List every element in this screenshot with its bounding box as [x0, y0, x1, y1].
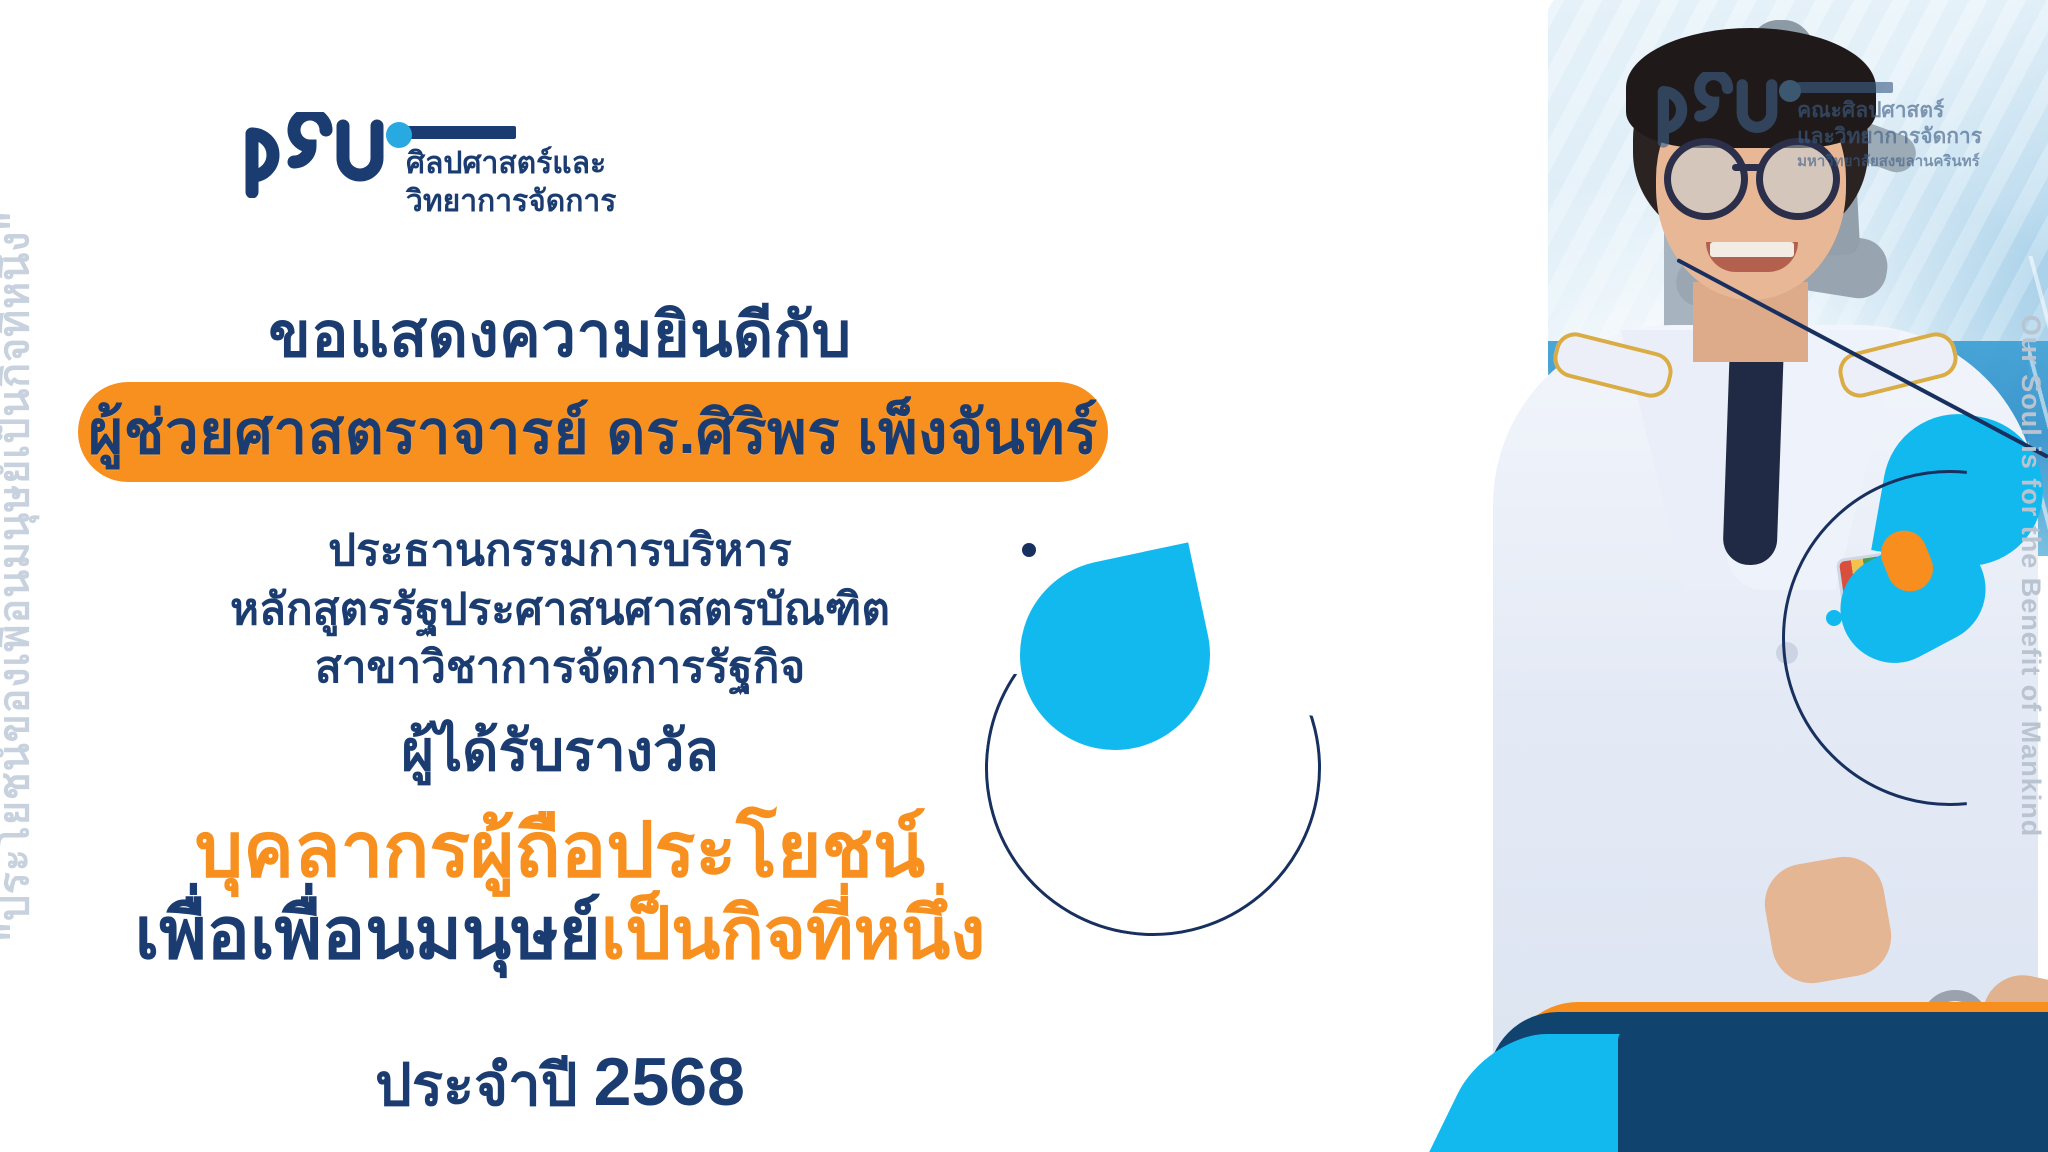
faculty-logo-bar: [1797, 82, 1893, 93]
faculty-logo-text: คณะศิลปศาสตร์ และวิทยาการจัดการ มหาวิทยา…: [1797, 72, 1982, 172]
faculty-logo-line2: และวิทยาการจัดการ: [1797, 124, 1982, 150]
poster-canvas: มหาวิทยาลัยสงขลานครินทร์ วิทยาเขตสุราษฎร…: [0, 0, 2048, 1152]
main-copy: ขอแสดงความยินดีกับ ผู้ช่วยศาสตราจารย์ ดร…: [0, 0, 1120, 1152]
award-year: ประจำปี 2568: [0, 1038, 1120, 1131]
honoree-name: ผู้ช่วยศาสตราจารย์ ดร.ศิริพร เพ็งจันทร์: [88, 385, 1098, 480]
year-value: 2568: [594, 1044, 745, 1120]
congratulations-heading: ขอแสดงความยินดีกับ: [0, 286, 1120, 384]
faculty-logo-dot-icon: [1779, 80, 1801, 102]
teeth: [1710, 242, 1794, 257]
award-line2-orange: เป็นกิจที่หนึ่ง: [601, 894, 986, 974]
award-title-line-1: บุคลากรผู้ถือประโยชน์: [0, 790, 1120, 910]
role-line-3: สาขาวิชาการจัดการรัฐกิจ: [0, 639, 1120, 698]
faculty-logo-mark-icon: [1653, 72, 1783, 148]
faculty-logo[interactable]: คณะศิลปศาสตร์ และวิทยาการจัดการ มหาวิทยา…: [1653, 72, 1982, 172]
award-title-line-2: เพื่อเพื่อนมนุษย์เป็นกิจที่หนึ่ง: [0, 898, 1120, 970]
necktie: [1722, 349, 1783, 566]
role-line-1: ประธานกรรมการบริหาร: [0, 522, 1120, 581]
slogan-english-vertical: Our Soul is for the Benefit of Mankind: [2017, 315, 2044, 838]
honoree-role: ประธานกรรมการบริหาร หลักสูตรรัฐประศาสนศา…: [0, 522, 1120, 698]
award-intro: ผู้ได้รับรางวัล: [0, 706, 1120, 795]
faculty-logo-line3: มหาวิทยาลัยสงขลานครินทร์: [1797, 152, 1982, 172]
honoree-name-banner: ผู้ช่วยศาสตราจารย์ ดร.ศิริพร เพ็งจันทร์: [78, 382, 1108, 482]
corner-wedge-navy-front: [1618, 1030, 2048, 1152]
year-label: ประจำปี: [375, 1053, 578, 1118]
faculty-logo-line1: คณะศิลปศาสตร์: [1797, 98, 1982, 124]
role-line-2: หลักสูตรรัฐประศาสนศาสตรบัณฑิต: [0, 581, 1120, 640]
award-line2-navy: เพื่อเพื่อนมนุษย์: [135, 894, 601, 974]
